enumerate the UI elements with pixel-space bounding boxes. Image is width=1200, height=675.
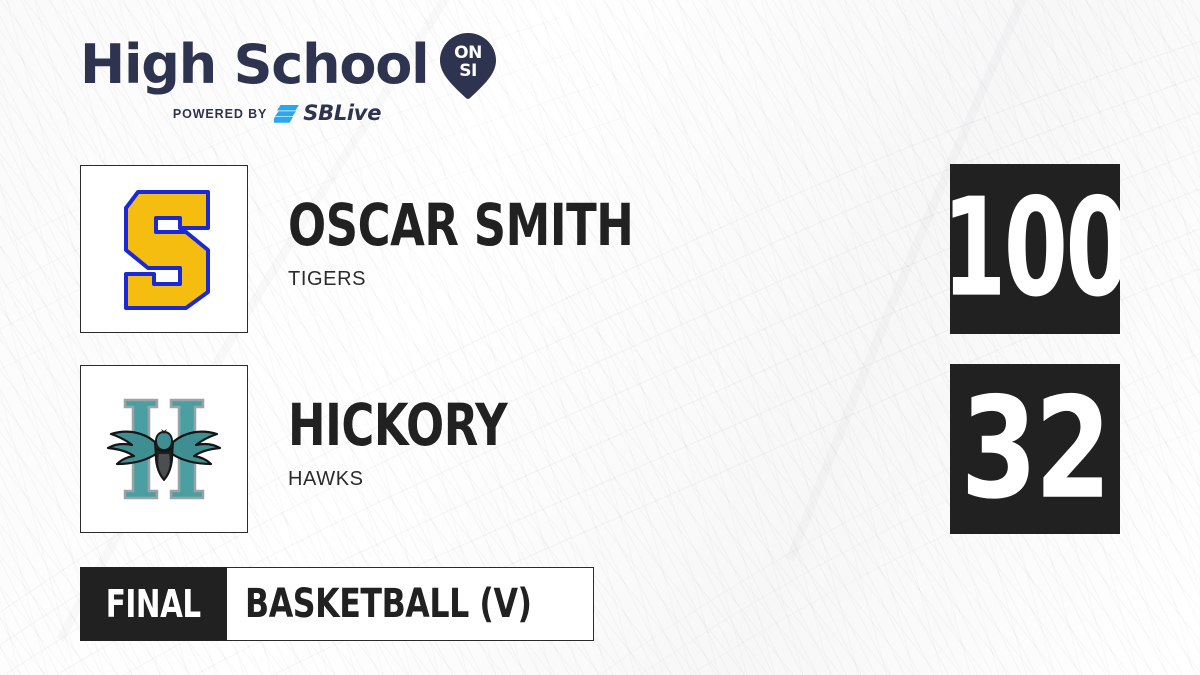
- page-title: High School: [80, 38, 428, 92]
- svg-text:ON: ON: [455, 43, 483, 63]
- scoreboard-graphic: High School ON SI POWERED BY SBLive: [0, 0, 1200, 675]
- svg-text:SI: SI: [460, 61, 478, 81]
- score-value: 100: [950, 181, 1120, 317]
- hickory-hawk-h-logo-icon: [99, 388, 229, 510]
- oscar-smith-block-s-logo-icon: [104, 184, 224, 314]
- brand-lockup: High School ON SI POWERED BY SBLive: [80, 34, 510, 134]
- brand-title-row: High School ON SI: [80, 34, 510, 96]
- sport-label: BASKETBALL (V): [245, 581, 532, 627]
- game-status-bar: FINAL BASKETBALL (V): [80, 567, 594, 641]
- status-badge: FINAL: [80, 567, 227, 641]
- sblive-logo: SBLive: [274, 103, 381, 124]
- status-badge-label: FINAL: [106, 582, 201, 626]
- team-logo-hickory: [80, 365, 248, 533]
- powered-by-label: POWERED BY: [173, 107, 267, 121]
- team-logo-oscar-smith: [80, 165, 248, 333]
- sblive-wordmark: SBLive: [303, 103, 381, 124]
- team-name: HICKORY: [288, 396, 507, 454]
- team-info-hickory: HICKORY HAWKS: [288, 396, 543, 491]
- team-score-hickory: 32: [950, 364, 1120, 534]
- sport-label-container: BASKETBALL (V): [227, 567, 594, 641]
- team-mascot: HAWKS: [288, 468, 543, 491]
- score-value: 32: [961, 379, 1109, 519]
- on-si-pin-icon: ON SI: [440, 33, 496, 99]
- powered-by-row: POWERED BY SBLive: [80, 103, 474, 124]
- team-name: OSCAR SMITH: [288, 196, 633, 254]
- team-mascot: TIGERS: [288, 268, 690, 291]
- team-score-oscar-smith: 100: [950, 164, 1120, 334]
- team-info-oscar-smith: OSCAR SMITH TIGERS: [288, 196, 690, 291]
- sblive-mark-icon: [274, 104, 300, 124]
